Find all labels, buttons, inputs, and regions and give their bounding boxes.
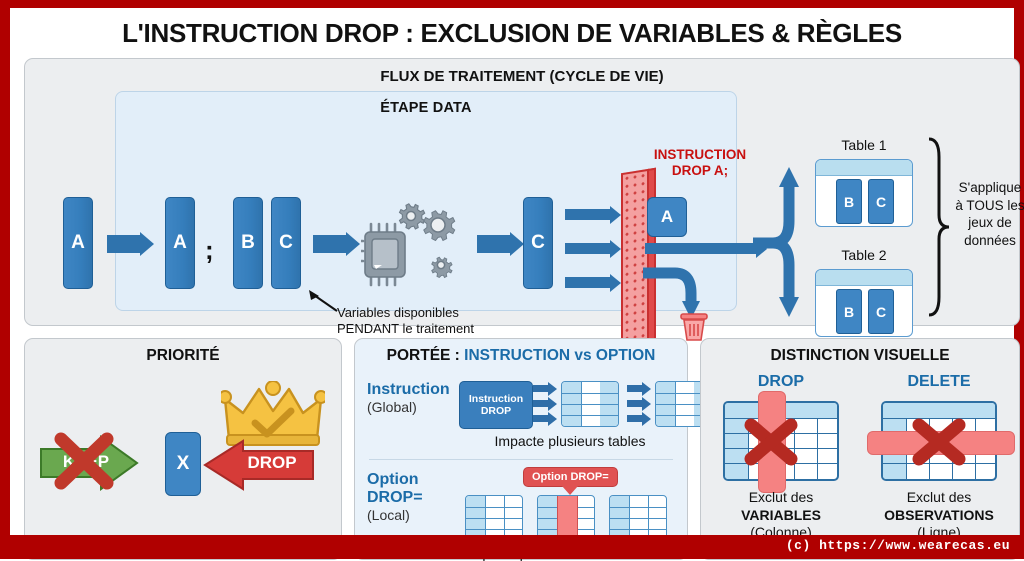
panel-flux-de-traitement: FLUX DE TRAITEMENT (CYCLE DE VIE) ÉTAPE … [24, 58, 1020, 326]
brace-note-line1: S'applique [959, 180, 1022, 195]
portee-instr-arrow-2 [533, 400, 549, 407]
dropped-variable-a: A [647, 197, 687, 237]
panel-priorite: PRIORITÉ KEEP X [24, 338, 342, 560]
distinction-drop-caption: Exclut des VARIABLES (Colonne) [706, 489, 856, 542]
priorite-panel-title: PRIORITÉ [25, 347, 341, 365]
footer-watermark: (c) https://www.wearecas.eu [786, 538, 1010, 553]
drop-caption-line1: Exclut des [749, 489, 814, 505]
step2-block-b: B [233, 197, 263, 289]
instruction-drop-box: Instruction DROP [459, 381, 533, 429]
distinction-delete-caption: Exclut des OBSERVATIONS (Ligne) [864, 489, 1014, 542]
drop-x-mark-icon [741, 415, 801, 469]
arrow-split-to-tables [751, 145, 817, 335]
portee-instr-arrow-3 [533, 415, 549, 422]
portee-instr-arrow-5 [627, 400, 643, 407]
red-cross-icon [47, 427, 123, 497]
table-2-col-b: B [836, 289, 862, 334]
arrow-to-barrier-1 [565, 209, 611, 220]
distinction-panel-title: DISTINCTION VISUELLE [701, 347, 1019, 365]
table-1-card: B C [815, 159, 913, 227]
delete-x-mark-icon [909, 415, 969, 469]
etape-data-title: ÉTAPE DATA [116, 100, 736, 116]
instruction-drop-label-line1: INSTRUCTION [654, 147, 746, 162]
portee-instr-arrow-1 [533, 385, 549, 392]
drop-caption-line2: VARIABLES [741, 507, 821, 523]
arrow-to-barrier-2 [565, 243, 611, 254]
arrow-barrier-passthrough [645, 243, 757, 254]
portee-row-instruction-label: Instruction (Global) [367, 381, 450, 417]
table-1-label: Table 1 [815, 137, 913, 153]
variables-annotation: Variables disponibles PENDANT le traitem… [337, 305, 474, 338]
option-drop-badge: Option DROP= [523, 467, 618, 487]
portee-panel-title: PORTÉE : INSTRUCTION vs OPTION [355, 347, 687, 365]
panel-distinction-visuelle: DISTINCTION VISUELLE DROP Exclut des VAR… [700, 338, 1020, 560]
table-2-header [816, 270, 912, 286]
table-2-col-c: C [868, 289, 894, 334]
tables-brace-icon [925, 137, 951, 317]
table-2-label: Table 2 [815, 247, 913, 263]
footer-banner: (c) https://www.wearecas.eu [0, 535, 1024, 559]
step2-block-a: A [165, 197, 195, 289]
annotation-pointer-icon [301, 287, 341, 315]
instruction-drop-box-line1: Instruction [469, 393, 523, 405]
applies-to-all-datasets-note: S'applique à TOUS les jeux de données [951, 179, 1024, 249]
delete-caption-line2: OBSERVATIONS [884, 507, 994, 523]
portee-option-title: Option [367, 471, 419, 488]
portee-instr-table-1 [561, 381, 619, 427]
portee-title-accent: INSTRUCTION vs OPTION [464, 347, 655, 364]
post-processing-block-c: C [523, 197, 553, 289]
flux-panel-title: FLUX DE TRAITEMENT (CYCLE DE VIE) [25, 68, 1019, 85]
variables-annotation-line1: Variables disponibles [337, 305, 459, 320]
table-1-col-c: C [868, 179, 894, 224]
input-variable-block-a: A [63, 197, 93, 289]
cpu-gears-icon [361, 199, 466, 296]
portee-row-option-label: Option DROP= (Local) [367, 471, 423, 525]
portee-option-sub: (Local) [367, 507, 410, 523]
arrow-step2-to-processing [313, 235, 347, 253]
brace-note-line3: jeux de [968, 215, 1012, 230]
variables-annotation-line2: PENDANT le traitement [337, 321, 474, 336]
filter-barrier-icon [621, 169, 649, 355]
panel-portee: PORTÉE : INSTRUCTION vs OPTION Instructi… [354, 338, 688, 560]
instruction-drop-box-line2: DROP [481, 405, 511, 417]
table-1-header [816, 160, 912, 176]
delete-caption-line1: Exclut des [907, 489, 972, 505]
infographic-frame: L'INSTRUCTION DROP : EXCLUSION DE VARIAB… [0, 0, 1024, 559]
portee-instruction-title: Instruction [367, 381, 450, 398]
step2-block-c: C [271, 197, 301, 289]
table-1-col-b: B [836, 179, 862, 224]
portee-instr-arrow-6 [627, 415, 643, 422]
brace-note-line2: à TOUS les [955, 198, 1024, 213]
arrow-processing-to-c [477, 235, 511, 253]
drop-label: DROP [235, 453, 309, 473]
brace-note-line4: données [964, 233, 1016, 248]
instruction-drop-label-line2: DROP A; [672, 163, 728, 178]
portee-divider [369, 459, 673, 460]
distinction-delete-head: DELETE [879, 373, 999, 391]
center-conflict-block: X [165, 432, 201, 496]
distinction-drop-head: DROP [721, 373, 841, 391]
statement-separator: ; [205, 235, 214, 266]
page-title: L'INSTRUCTION DROP : EXCLUSION DE VARIAB… [10, 18, 1014, 50]
portee-instruction-caption: Impacte plusieurs tables [455, 433, 685, 449]
portee-instruction-sub: (Global) [367, 399, 417, 415]
arrow-to-barrier-3 [565, 277, 611, 288]
table-2-card: B C [815, 269, 913, 337]
arrow-input-to-step2 [107, 235, 141, 253]
portee-instr-arrow-4 [627, 385, 643, 392]
portee-title-static: PORTÉE : [387, 347, 465, 364]
portee-option-title2: DROP= [367, 489, 423, 506]
